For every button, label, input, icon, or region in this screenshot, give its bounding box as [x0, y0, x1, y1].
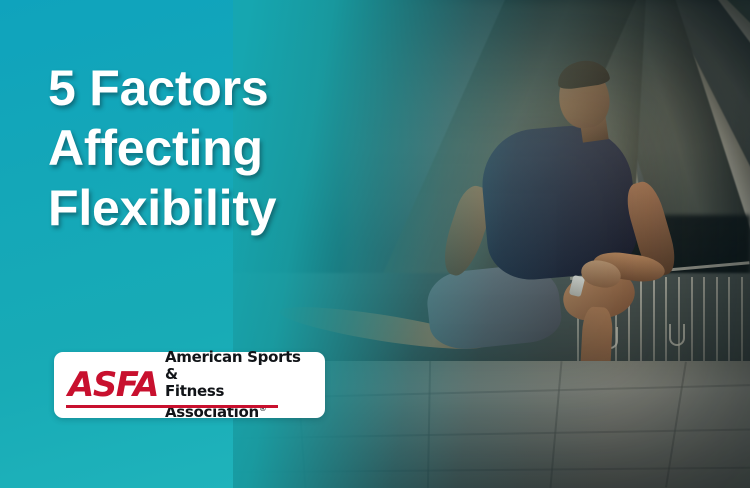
promo-banner: 5 Factors Affecting Flexibility ASFA Ame… [0, 0, 750, 488]
asfa-acronym: ASFA [68, 368, 158, 402]
logo-inner: ASFA American Sports & Fitness Associati… [54, 349, 325, 421]
asfa-name-line-1: American Sports & [165, 349, 311, 383]
asfa-name-line-2-text: Fitness Association [165, 382, 259, 421]
asfa-name-line-2: Fitness Association® [165, 383, 311, 421]
page-title: 5 Factors Affecting Flexibility [48, 58, 468, 238]
asfa-full-name: American Sports & Fitness Association® [165, 349, 311, 421]
asfa-logo-card[interactable]: ASFA American Sports & Fitness Associati… [54, 352, 325, 418]
headline-line-3: Flexibility [48, 178, 468, 238]
asfa-underline-rule [66, 405, 278, 408]
headline-line-1: 5 Factors [48, 58, 468, 118]
asfa-wordmark: ASFA [68, 368, 158, 402]
headline-line-2: Affecting [48, 118, 468, 178]
